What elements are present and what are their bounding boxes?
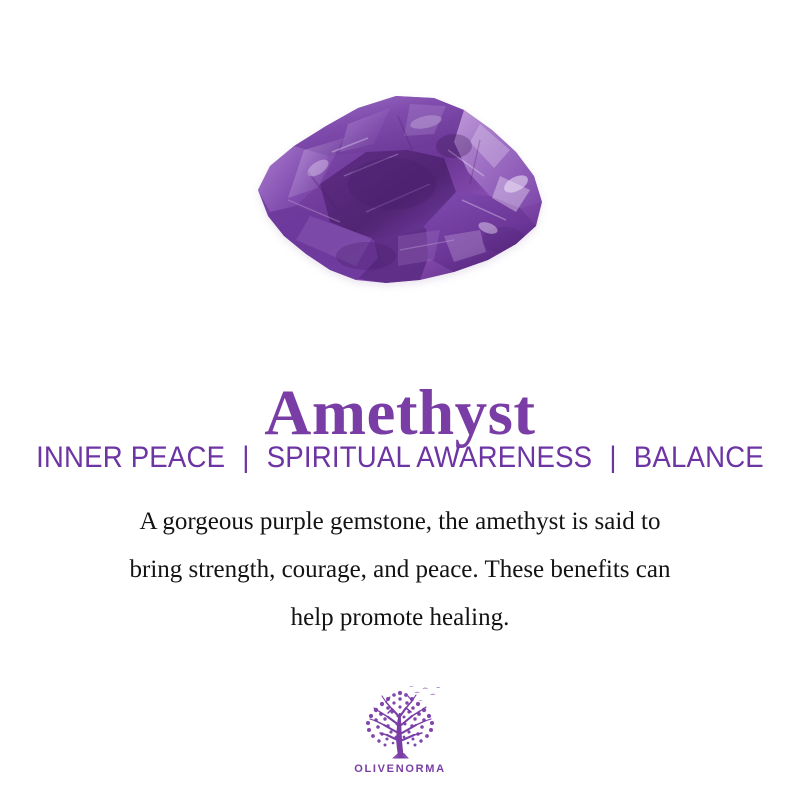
amethyst-product-card: Amethyst INNER PEACE | SPIRITUAL AWARENE… bbox=[0, 0, 800, 800]
brand-logo: OLIVENORMA bbox=[0, 683, 800, 775]
page-title: Amethyst bbox=[0, 377, 800, 449]
description-line-2: bring strength, courage, and peace. Thes… bbox=[50, 546, 750, 594]
keyword-separator-1: | bbox=[233, 441, 259, 475]
hero-image-area bbox=[0, 0, 800, 320]
amethyst-stone-image bbox=[248, 80, 552, 296]
tree-of-life-icon bbox=[354, 683, 446, 761]
keyword-balance: BALANCE bbox=[634, 441, 764, 474]
keyword-line: INNER PEACE | SPIRITUAL AWARENESS | BALA… bbox=[32, 441, 768, 475]
description-text: A gorgeous purple gemstone, the amethyst… bbox=[50, 498, 750, 642]
amethyst-stone-icon bbox=[248, 80, 552, 296]
keyword-separator-2: | bbox=[600, 441, 626, 475]
description-line-1: A gorgeous purple gemstone, the amethyst… bbox=[50, 498, 750, 546]
description-line-3: help promote healing. bbox=[50, 594, 750, 642]
brand-name: OLIVENORMA bbox=[354, 763, 446, 775]
keyword-inner-peace: INNER PEACE bbox=[36, 441, 225, 474]
keyword-spiritual-awareness: SPIRITUAL AWARENESS bbox=[267, 441, 593, 474]
